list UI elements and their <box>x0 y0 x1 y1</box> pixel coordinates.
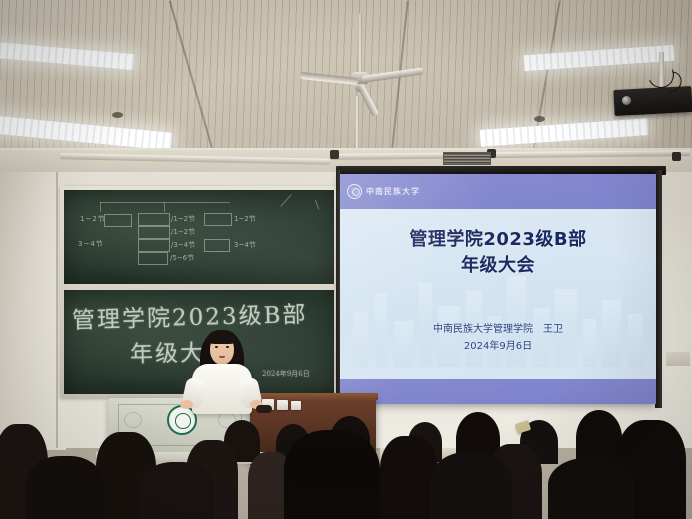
slide-logo: 中南民族大学 <box>340 184 420 199</box>
audience-head <box>140 462 214 519</box>
speaker-presenter <box>178 326 278 416</box>
audience-head <box>284 430 380 519</box>
university-seal-icon <box>347 184 362 199</box>
ceiling-fan <box>300 14 420 106</box>
presentation-slide: 中南民族大学 管理学院2023级B部 年级大会 中南民族大学管理学院 王卫 20… <box>340 174 656 404</box>
wall-corner-edge <box>56 152 58 448</box>
wall-sign <box>666 352 690 366</box>
ceiling-fixture-dot <box>112 112 123 118</box>
slide-title-line1: 管理学院2023级B部 <box>340 227 656 253</box>
ceiling-fixture-dot <box>534 116 545 122</box>
audience-head <box>26 456 104 519</box>
slide-header-bar: 中南民族大学 <box>340 174 656 209</box>
speaker-eye <box>226 346 229 348</box>
speaker-eye <box>215 346 218 348</box>
projection-screen-edge <box>655 170 662 408</box>
microphone-base <box>256 405 272 413</box>
slide-logo-text: 中南民族大学 <box>366 186 420 197</box>
audience-head <box>548 458 634 519</box>
rail-bracket <box>672 152 681 161</box>
projection-screen: 中南民族大学 管理学院2023级B部 年级大会 中南民族大学管理学院 王卫 20… <box>340 174 656 404</box>
desk-object <box>277 400 288 410</box>
blackboard-upper: 1~2节 3~4节 /1~2节 /1~2节 /3~4节 /5~6节 1~2节 3… <box>64 190 334 284</box>
slide-subtitle: 中南民族大学管理学院 王卫 2024年9月6日 <box>340 321 656 355</box>
speaker-hair-top <box>208 330 236 344</box>
rail-bracket <box>330 150 339 159</box>
speaker-hand <box>180 400 193 409</box>
lectern-decor-icon <box>124 412 142 428</box>
slide-title: 管理学院2023级B部 年级大会 <box>340 227 656 279</box>
classroom-photo-scene: 1~2节 3~4节 /1~2节 /1~2节 /3~4节 /5~6节 1~2节 3… <box>0 0 692 519</box>
slide-footer-bar <box>340 379 656 404</box>
slide-presenter: 中南民族大学管理学院 王卫 <box>433 324 563 335</box>
slide-title-line2: 年级大会 <box>340 253 656 279</box>
slide-date: 2024年9月6日 <box>340 338 656 355</box>
audience-head <box>430 452 512 519</box>
desk-object <box>291 401 301 410</box>
projector-lens-icon <box>622 96 631 105</box>
wall-vent <box>443 152 491 165</box>
